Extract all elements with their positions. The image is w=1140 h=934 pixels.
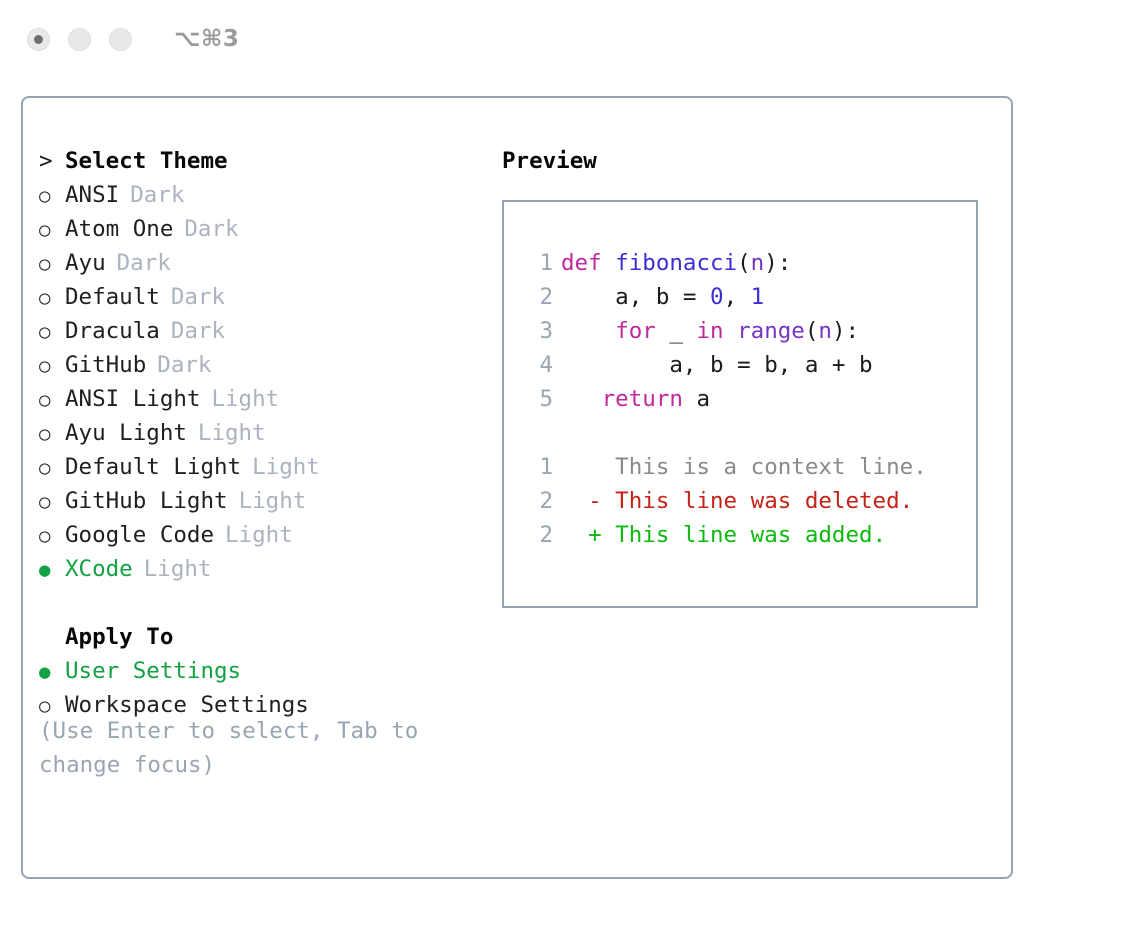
code-diff-spacer <box>523 416 976 450</box>
code-line-number: 5 <box>523 382 553 416</box>
apply-to-options-list: ●User Settings○Workspace Settings <box>39 654 489 722</box>
apply-to-header-label: Apply To <box>65 620 173 654</box>
theme-kind-label: Light <box>144 552 212 586</box>
window-titlebar: ⌥⌘3 <box>0 0 1140 78</box>
theme-option-row[interactable]: ○DefaultDark <box>39 280 489 314</box>
radio-unselected-icon[interactable]: ○ <box>39 213 65 247</box>
code-token-kw: in <box>696 318 723 344</box>
card-inner: > Select Theme ○ANSIDark○Atom OneDark○Ay… <box>23 98 1011 877</box>
diff-line-added: 2 + This line was added. <box>523 518 976 552</box>
apply-to-option-row[interactable]: ●User Settings <box>39 654 489 688</box>
radio-unselected-icon[interactable]: ○ <box>39 519 65 553</box>
radio-unselected-icon[interactable]: ○ <box>39 383 65 417</box>
theme-kind-label: Light <box>252 450 320 484</box>
window-dot-2[interactable] <box>68 28 91 51</box>
radio-unselected-icon[interactable]: ○ <box>39 349 65 383</box>
theme-option-row[interactable]: ○Default LightLight <box>39 450 489 484</box>
theme-name-label: GitHub <box>65 348 146 382</box>
code-token-kw: return <box>602 386 683 412</box>
code-token-plain <box>561 318 615 344</box>
code-token-ident: n <box>818 318 832 344</box>
theme-kind-label: Light <box>225 518 293 552</box>
code-line-number: 3 <box>523 314 553 348</box>
theme-name-label: Dracula <box>65 314 160 348</box>
code-token-plain <box>561 386 602 412</box>
radio-unselected-icon[interactable]: ○ <box>39 451 65 485</box>
code-line-number: 1 <box>523 246 553 280</box>
theme-option-row[interactable]: ○ANSI LightLight <box>39 382 489 416</box>
theme-kind-label: Light <box>239 484 307 518</box>
theme-name-label: XCode <box>65 552 133 586</box>
code-token-plain: , <box>724 284 751 310</box>
theme-name-label: GitHub Light <box>65 484 228 518</box>
code-line: 4 a, b = b, a + b <box>523 348 976 382</box>
code-line: 5 return a <box>523 382 976 416</box>
diff-line-text: + This line was added. <box>561 522 886 548</box>
main-card: > Select Theme ○ANSIDark○Atom OneDark○Ay… <box>21 96 1013 879</box>
code-token-plain: ): <box>832 318 859 344</box>
code-token-plain: ): <box>764 250 791 276</box>
theme-selector-app: ⌥⌘3 > Select Theme ○ANSIDark○Atom OneDar… <box>0 0 1140 934</box>
apply-to-header-gutter <box>39 620 65 654</box>
window-dot-active[interactable] <box>27 28 50 51</box>
preview-box: 1def fibonacci(n):2 a, b = 0, 13 for _ i… <box>502 200 978 608</box>
radio-unselected-icon[interactable]: ○ <box>39 179 65 213</box>
theme-option-row[interactable]: ○AyuDark <box>39 246 489 280</box>
code-token-ident: range <box>737 318 805 344</box>
preview-panel: Preview 1def fibonacci(n):2 a, b = 0, 13… <box>502 144 992 608</box>
theme-option-row[interactable]: ●XCodeLight <box>39 552 489 586</box>
code-token-plain: a <box>683 386 710 412</box>
theme-option-row[interactable]: ○DraculaDark <box>39 314 489 348</box>
apply-to-header: Apply To <box>39 620 489 654</box>
theme-list-panel: > Select Theme ○ANSIDark○Atom OneDark○Ay… <box>39 144 489 722</box>
code-token-kw: def <box>561 250 602 276</box>
keyboard-shortcut-label: ⌥⌘3 <box>174 26 239 52</box>
select-theme-header: > Select Theme <box>39 144 489 178</box>
code-token-plain: ( <box>737 250 751 276</box>
section-spacer <box>39 586 489 620</box>
code-line: 2 a, b = 0, 1 <box>523 280 976 314</box>
radio-unselected-icon[interactable]: ○ <box>39 281 65 315</box>
preview-title: Preview <box>502 144 992 178</box>
code-token-fn: fibonacci <box>615 250 737 276</box>
theme-kind-label: Dark <box>184 212 238 246</box>
window-dot-3[interactable] <box>109 28 132 51</box>
code-line: 1def fibonacci(n): <box>523 246 976 280</box>
diff-line-deleted: 2 - This line was deleted. <box>523 484 976 518</box>
diff-line-text: This is a context line. <box>561 454 927 480</box>
theme-kind-label: Dark <box>171 314 225 348</box>
theme-option-row[interactable]: ○ANSIDark <box>39 178 489 212</box>
theme-kind-label: Light <box>211 382 279 416</box>
diff-sample: 1 This is a context line.2 - This line w… <box>523 450 976 552</box>
keyboard-hint: (Use Enter to select, Tab to change focu… <box>39 714 454 782</box>
prompt-caret-icon: > <box>39 144 65 178</box>
radio-unselected-icon[interactable]: ○ <box>39 417 65 451</box>
code-line-number: 4 <box>523 348 553 382</box>
theme-option-row[interactable]: ○GitHub LightLight <box>39 484 489 518</box>
select-theme-header-label: Select Theme <box>65 144 228 178</box>
theme-name-label: ANSI <box>65 178 119 212</box>
theme-name-label: Default <box>65 280 160 314</box>
radio-unselected-icon[interactable]: ○ <box>39 485 65 519</box>
theme-kind-label: Dark <box>171 280 225 314</box>
theme-name-label: ANSI Light <box>65 382 200 416</box>
theme-option-row[interactable]: ○Google CodeLight <box>39 518 489 552</box>
code-token-plain: ( <box>805 318 819 344</box>
theme-name-label: Google Code <box>65 518 214 552</box>
apply-to-label: User Settings <box>65 654 241 688</box>
code-token-plain: _ <box>656 318 697 344</box>
window-controls <box>27 28 132 51</box>
radio-selected-icon[interactable]: ● <box>39 553 65 587</box>
code-token-ident: n <box>751 250 765 276</box>
diff-line-number: 1 <box>523 450 553 484</box>
theme-options-list: ○ANSIDark○Atom OneDark○AyuDark○DefaultDa… <box>39 178 489 586</box>
theme-name-label: Atom One <box>65 212 173 246</box>
theme-kind-label: Light <box>198 416 266 450</box>
diff-line-number: 2 <box>523 518 553 552</box>
radio-selected-icon[interactable]: ● <box>39 655 65 689</box>
theme-option-row[interactable]: ○Ayu LightLight <box>39 416 489 450</box>
theme-name-label: Default Light <box>65 450 241 484</box>
code-token-plain <box>724 318 738 344</box>
radio-unselected-icon[interactable]: ○ <box>39 247 65 281</box>
theme-kind-label: Dark <box>117 246 171 280</box>
code-line-number: 2 <box>523 280 553 314</box>
theme-option-row[interactable]: ○Atom OneDark <box>39 212 489 246</box>
code-sample: 1def fibonacci(n):2 a, b = 0, 13 for _ i… <box>523 246 976 416</box>
diff-line-text: - This line was deleted. <box>561 488 913 514</box>
code-token-num: 0 <box>710 284 724 310</box>
diff-line-number: 2 <box>523 484 553 518</box>
code-token-plain: a, b = <box>561 284 710 310</box>
theme-kind-label: Dark <box>157 348 211 382</box>
radio-unselected-icon[interactable]: ○ <box>39 315 65 349</box>
diff-line-context: 1 This is a context line. <box>523 450 976 484</box>
window-dot-active-inner <box>34 35 43 44</box>
theme-name-label: Ayu <box>65 246 106 280</box>
code-line: 3 for _ in range(n): <box>523 314 976 348</box>
theme-name-label: Ayu Light <box>65 416 187 450</box>
theme-option-row[interactable]: ○GitHubDark <box>39 348 489 382</box>
code-token-kw: for <box>615 318 656 344</box>
code-token-num: 1 <box>751 284 765 310</box>
code-token-plain <box>602 250 616 276</box>
theme-kind-label: Dark <box>130 178 184 212</box>
code-token-plain: a, b = b, a + b <box>561 352 873 378</box>
